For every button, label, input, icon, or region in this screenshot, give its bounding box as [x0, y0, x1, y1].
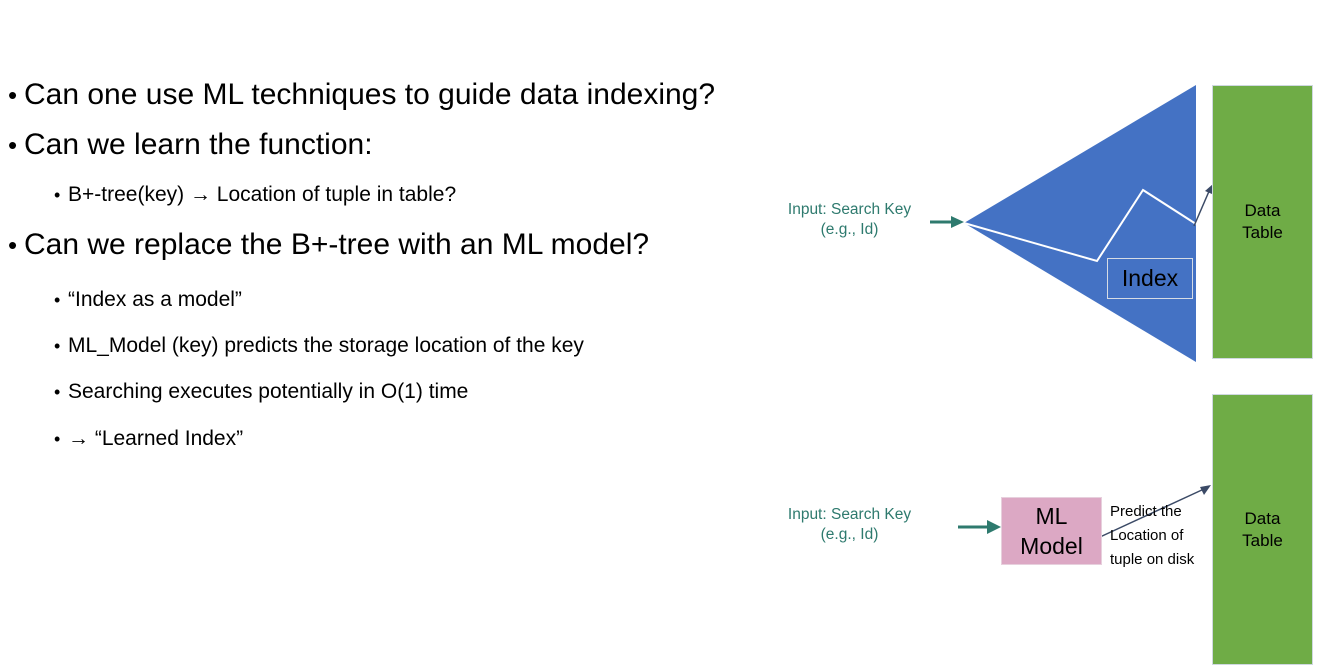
- data-table-line2: Table: [1242, 530, 1283, 552]
- ml-input-arrow-head: [987, 520, 1001, 534]
- ml-input-search-key-label: Input: Search Key (e.g., Id): [762, 505, 937, 545]
- predict-location-label: Predict the Location of tuple on disk: [1110, 500, 1206, 572]
- ml-model-diagram: Input: Search Key (e.g., Id) ML Model Pr…: [0, 0, 1317, 667]
- data-table-box-bottom: Data Table: [1212, 394, 1313, 665]
- ml-input-label-line2: (e.g., Id): [762, 525, 937, 545]
- ml-model-line2: Model: [1020, 531, 1083, 561]
- data-table-label-bottom: Data Table: [1242, 508, 1283, 552]
- slide-canvas: • Can one use ML techniques to guide dat…: [0, 0, 1317, 667]
- ml-input-label-line1: Input: Search Key: [762, 505, 937, 525]
- data-table-line1: Data: [1242, 508, 1283, 530]
- predict-arrow-head: [1200, 485, 1211, 495]
- ml-model-box: ML Model: [1001, 497, 1102, 565]
- ml-model-line1: ML: [1036, 501, 1068, 531]
